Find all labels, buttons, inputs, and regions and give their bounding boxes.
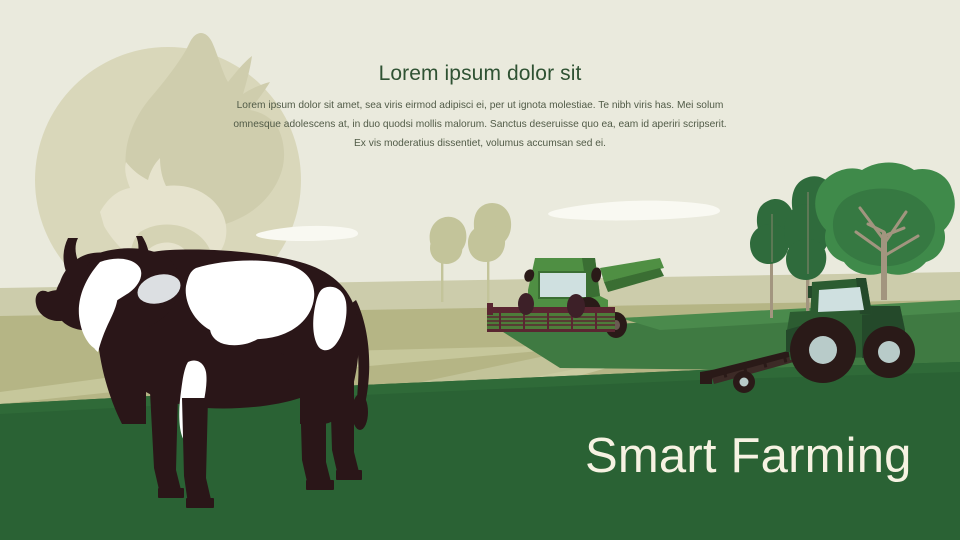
slide-paragraph: Lorem ipsum dolor sit amet, sea viris ei… <box>230 96 730 153</box>
slide-heading: Lorem ipsum dolor sit <box>230 62 730 86</box>
slide-canvas: Lorem ipsum dolor sit Lorem ipsum dolor … <box>0 0 960 540</box>
slide-title: Smart Farming <box>585 428 912 484</box>
